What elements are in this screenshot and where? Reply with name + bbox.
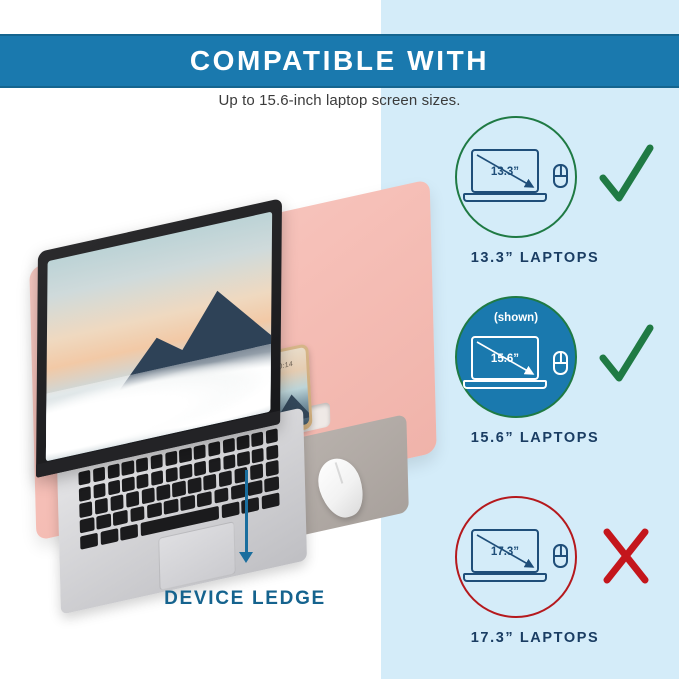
laptop-icon-base <box>463 193 547 202</box>
compat-row-17: 17.3” 17.3” LAPTOPS <box>400 496 670 671</box>
compat-caption: 17.3” LAPTOPS <box>400 630 670 646</box>
laptop-size-label: 13.3” <box>471 166 539 178</box>
callout-arrow-icon <box>239 552 253 563</box>
laptop-size-label: 15.6” <box>471 353 539 365</box>
mouse-icon-divider <box>559 166 561 175</box>
infographic-page: COMPATIBLE WITH Up to 15.6-inch laptop s… <box>0 0 679 679</box>
laptop-icon: 15.6” <box>471 336 539 390</box>
check-icon <box>595 138 657 212</box>
compat-row-15: (shown) 15.6” <box>400 296 670 471</box>
compat-caption: 13.3” LAPTOPS <box>400 250 670 266</box>
mouse-icon-line <box>555 362 566 364</box>
banner-title: COMPATIBLE WITH <box>190 45 489 77</box>
mouse-icon <box>553 351 568 375</box>
compat-circle: 13.3” <box>455 116 577 238</box>
compat-row-13: 13.3” 13.3” LAPTOPS <box>400 116 670 291</box>
mouse-icon-line <box>555 555 566 557</box>
shown-tag: (shown) <box>457 312 575 324</box>
mouse-icon-divider <box>559 546 561 555</box>
mouse-icon <box>553 544 568 568</box>
device-ledge-label: DEVICE LEDGE <box>92 588 398 610</box>
mouse-icon-divider <box>559 353 561 362</box>
callout-line <box>245 470 248 556</box>
laptop-icon-base <box>463 380 547 389</box>
mouse-icon-line <box>555 175 566 177</box>
product-photo: 10:14 <box>0 118 381 548</box>
compat-circle: (shown) 15.6” <box>455 296 577 418</box>
compat-circle: 17.3” <box>455 496 577 618</box>
subtitle-text: Up to 15.6-inch laptop screen sizes. <box>0 92 679 109</box>
check-icon <box>595 318 657 392</box>
mouse-icon <box>553 164 568 188</box>
laptop-icon-base <box>463 573 547 582</box>
compat-caption: 15.6” LAPTOPS <box>400 430 670 446</box>
laptop-icon: 17.3” <box>471 529 539 583</box>
cross-icon <box>595 518 657 592</box>
laptop-size-label: 17.3” <box>471 546 539 558</box>
laptop-icon: 13.3” <box>471 149 539 203</box>
header-banner: COMPATIBLE WITH <box>0 34 679 88</box>
